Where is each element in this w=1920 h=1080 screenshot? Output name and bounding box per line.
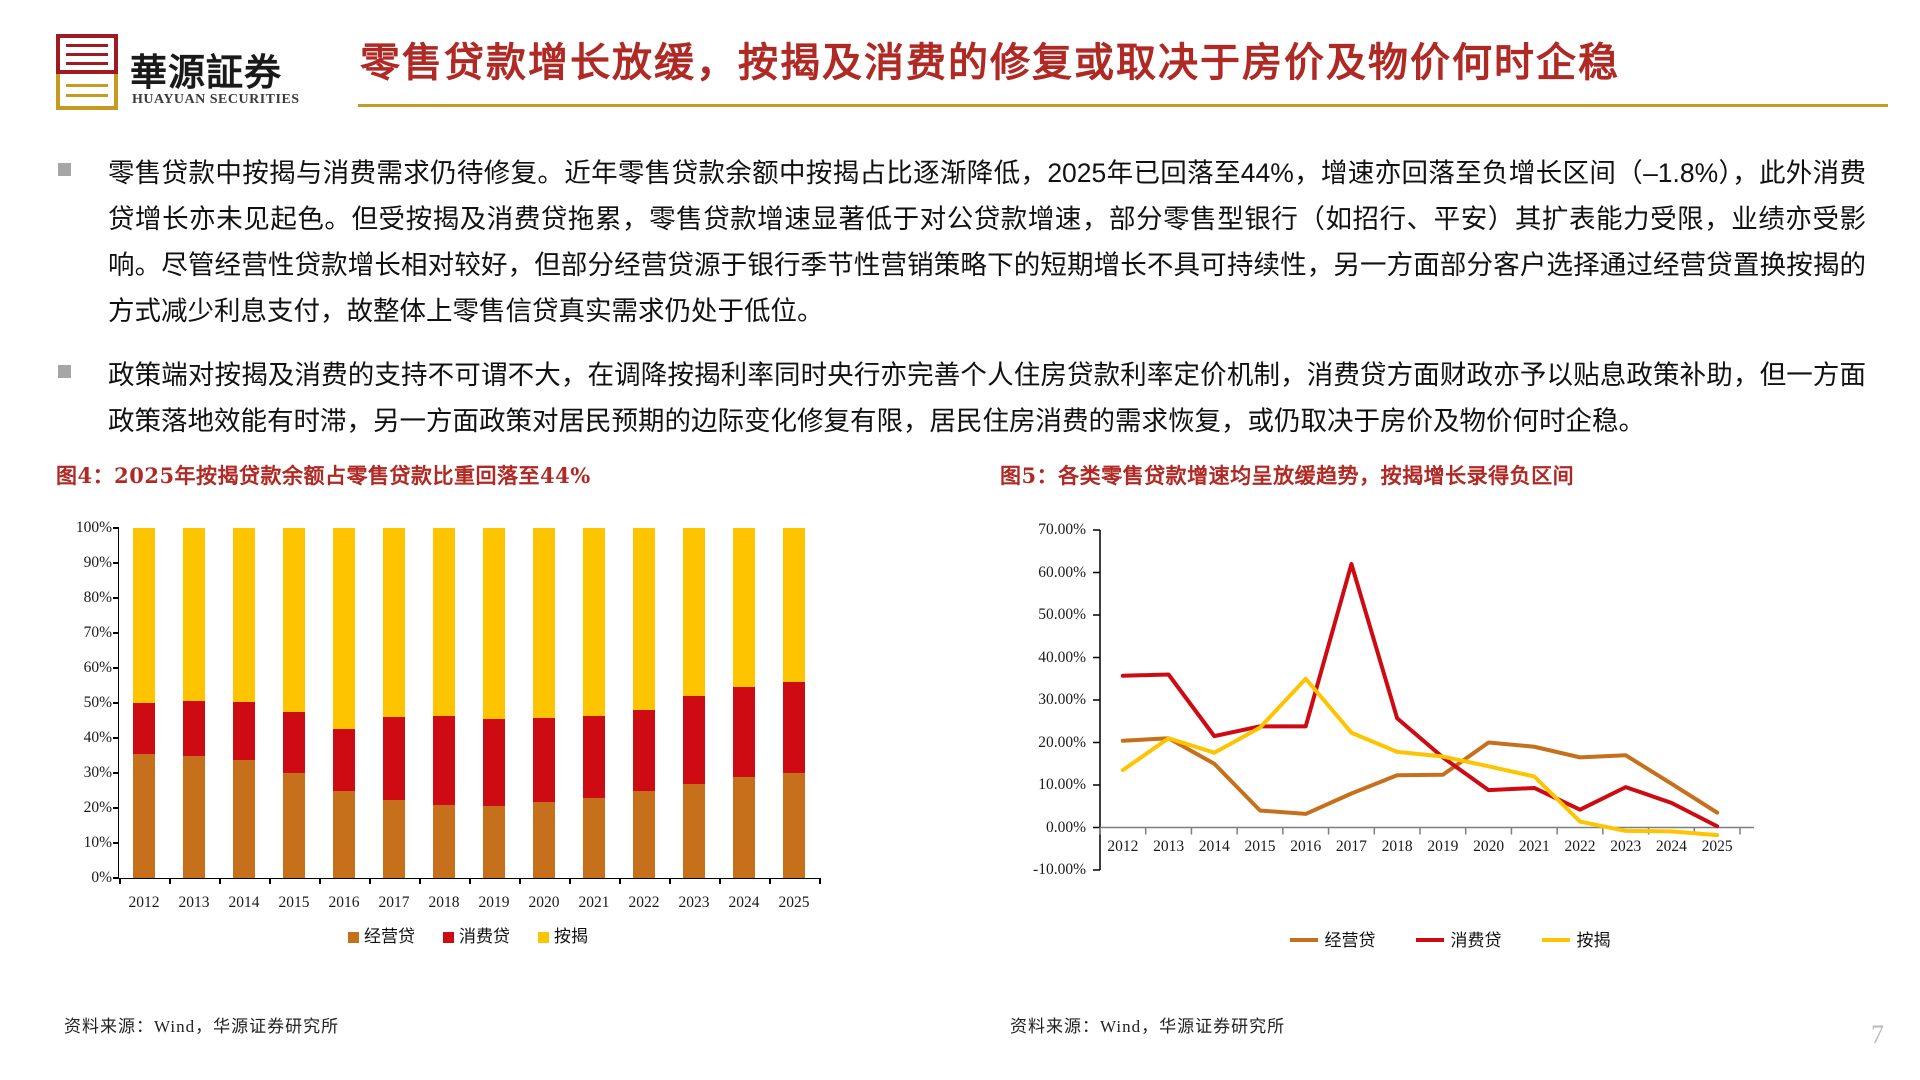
bar-segment-经营贷 bbox=[583, 798, 605, 879]
x-axis-label: 2014 bbox=[229, 894, 260, 912]
bar-column bbox=[733, 528, 755, 878]
x-axis-label: 2022 bbox=[1565, 838, 1596, 856]
bar-segment-经营贷 bbox=[633, 791, 655, 878]
bar-segment-经营贷 bbox=[533, 802, 555, 878]
x-axis-label: 2013 bbox=[1153, 838, 1184, 856]
y-axis-label: 60% bbox=[84, 659, 112, 677]
y-axis-label: 30% bbox=[84, 764, 112, 782]
x-axis-tick bbox=[469, 878, 471, 884]
y-axis-tick bbox=[113, 807, 119, 809]
bar-segment-经营贷 bbox=[433, 805, 455, 879]
bar-column bbox=[433, 528, 455, 878]
bar-segment-按揭 bbox=[133, 528, 155, 703]
x-axis-tick bbox=[219, 878, 221, 884]
x-axis-label: 2017 bbox=[1336, 838, 1367, 856]
y-axis-tick bbox=[113, 772, 119, 774]
bullet-item: 政策端对按揭及消费的支持不可谓不大，在调降按揭利率同时央行亦完善个人住房贷款利率… bbox=[56, 352, 1866, 444]
bullet-square-icon bbox=[58, 163, 71, 176]
bar-column bbox=[683, 528, 705, 878]
figure-4-panel: 图4：2025年按揭贷款余额占零售贷款比重回落至44% 0%10%20%30%4… bbox=[56, 460, 926, 516]
x-axis-tick bbox=[719, 878, 721, 884]
line-series-经营贷 bbox=[1123, 738, 1717, 814]
x-axis-label: 2016 bbox=[1290, 838, 1321, 856]
brand-logo: 華源証券 HUAYUAN SECURITIES bbox=[56, 34, 346, 114]
bar-segment-经营贷 bbox=[733, 777, 755, 879]
legend-item-消费贷: 消费贷 bbox=[443, 922, 510, 947]
bar-segment-按揭 bbox=[283, 528, 305, 712]
bar-segment-消费贷 bbox=[383, 717, 405, 800]
bar-column bbox=[583, 528, 605, 878]
y-axis-label: 70.00% bbox=[1000, 521, 1086, 539]
x-axis-label: 2014 bbox=[1199, 838, 1230, 856]
legend-label: 经营贷 bbox=[364, 927, 415, 946]
bar-segment-经营贷 bbox=[683, 784, 705, 879]
bar-segment-消费贷 bbox=[583, 716, 605, 797]
bar-segment-消费贷 bbox=[483, 719, 505, 806]
y-axis-label: 50.00% bbox=[1000, 606, 1086, 624]
x-axis-label: 2021 bbox=[1519, 838, 1550, 856]
y-axis-tick bbox=[113, 597, 119, 599]
y-axis-label: 20% bbox=[84, 799, 112, 817]
y-axis-label: 0% bbox=[91, 869, 112, 887]
bar-segment-按揭 bbox=[333, 528, 355, 729]
x-axis-label: 2015 bbox=[1245, 838, 1276, 856]
y-axis-label: 0.00% bbox=[1000, 819, 1086, 837]
y-axis-label: 100% bbox=[76, 519, 112, 537]
bar-segment-消费贷 bbox=[633, 710, 655, 791]
legend-item-消费贷: 消费贷 bbox=[1416, 926, 1502, 951]
legend-label: 消费贷 bbox=[459, 927, 510, 946]
title-underline bbox=[358, 104, 1888, 107]
bar-segment-按揭 bbox=[533, 528, 555, 718]
x-axis-label: 2025 bbox=[1702, 838, 1733, 856]
bar-segment-按揭 bbox=[233, 528, 255, 702]
y-axis-tick bbox=[113, 702, 119, 704]
figure-4-title: 图4：2025年按揭贷款余额占零售贷款比重回落至44% bbox=[56, 460, 926, 490]
bar-column bbox=[783, 528, 805, 878]
x-axis-label: 2024 bbox=[729, 894, 760, 912]
y-axis-label: 50% bbox=[84, 694, 112, 712]
bar-column bbox=[233, 528, 255, 878]
y-axis-label: 70% bbox=[84, 624, 112, 642]
bar-segment-消费贷 bbox=[233, 702, 255, 760]
bar-segment-消费贷 bbox=[783, 682, 805, 773]
line-series-消费贷 bbox=[1123, 564, 1717, 826]
x-axis-label: 2012 bbox=[129, 894, 160, 912]
bar-segment-经营贷 bbox=[133, 754, 155, 878]
bar-column bbox=[283, 528, 305, 878]
y-axis-label: 20.00% bbox=[1000, 734, 1086, 752]
x-axis-label: 2023 bbox=[679, 894, 710, 912]
y-axis-tick bbox=[113, 527, 119, 529]
x-axis-label: 2020 bbox=[529, 894, 560, 912]
bar-segment-经营贷 bbox=[783, 773, 805, 878]
chart-legend: 经营贷消费贷按揭 bbox=[118, 922, 818, 947]
bar-segment-消费贷 bbox=[133, 703, 155, 754]
page-number: 7 bbox=[1871, 1020, 1884, 1050]
bar-column bbox=[183, 528, 205, 878]
bar-column bbox=[633, 528, 655, 878]
figure-5-source: 资料来源：Wind，华源证券研究所 bbox=[1010, 1012, 1285, 1037]
bar-segment-按揭 bbox=[433, 528, 455, 716]
y-axis-label: -10.00% bbox=[1000, 861, 1086, 879]
y-axis-label: 40.00% bbox=[1000, 649, 1086, 667]
x-axis-label: 2015 bbox=[279, 894, 310, 912]
legend-item-按揭: 按揭 bbox=[1542, 926, 1611, 951]
x-axis-label: 2012 bbox=[1107, 838, 1138, 856]
x-axis-tick bbox=[119, 878, 121, 884]
bar-segment-消费贷 bbox=[333, 729, 355, 791]
x-axis-tick bbox=[519, 878, 521, 884]
x-axis-tick bbox=[669, 878, 671, 884]
x-axis-tick bbox=[769, 878, 771, 884]
x-axis-tick bbox=[169, 878, 171, 884]
x-axis-label: 2019 bbox=[479, 894, 510, 912]
page-title: 零售贷款增长放缓，按揭及消费的修复或取决于房价及物价何时企稳 bbox=[360, 30, 1890, 88]
bullet-text: 零售贷款中按揭与消费需求仍待修复。近年零售贷款余额中按揭占比逐渐降低，2025年… bbox=[108, 150, 1866, 334]
x-axis-tick bbox=[369, 878, 371, 884]
y-axis-label: 30.00% bbox=[1000, 691, 1086, 709]
x-axis-label: 2025 bbox=[779, 894, 810, 912]
legend-line-icon bbox=[1290, 938, 1318, 942]
y-axis-label: 10% bbox=[84, 834, 112, 852]
bar-segment-消费贷 bbox=[533, 718, 555, 802]
bar-column bbox=[383, 528, 405, 878]
legend-swatch-icon bbox=[538, 932, 549, 943]
x-axis-label: 2021 bbox=[579, 894, 610, 912]
x-axis-label: 2017 bbox=[379, 894, 410, 912]
legend-label: 按揭 bbox=[1577, 931, 1611, 950]
bar-segment-消费贷 bbox=[283, 712, 305, 773]
bar-column bbox=[333, 528, 355, 878]
figure-5-line-chart: 经营贷消费贷按揭 -10.00%0.00%10.00%20.00%30.00%4… bbox=[1000, 518, 1860, 918]
brand-name-en: HUAYUAN SECURITIES bbox=[132, 92, 300, 108]
x-axis-label: 2013 bbox=[179, 894, 210, 912]
legend-label: 消费贷 bbox=[1451, 931, 1502, 950]
bar-segment-按揭 bbox=[583, 528, 605, 716]
x-axis-tick bbox=[819, 878, 821, 884]
bullet-square-icon bbox=[58, 365, 71, 378]
figure-5-title: 图5：各类零售贷款增速均呈放缓趋势，按揭增长录得负区间 bbox=[1000, 460, 1880, 490]
y-axis-label: 60.00% bbox=[1000, 564, 1086, 582]
legend-label: 按揭 bbox=[554, 927, 588, 946]
x-axis-tick bbox=[569, 878, 571, 884]
huayuan-logo-icon bbox=[56, 34, 118, 110]
x-axis-tick bbox=[319, 878, 321, 884]
bar-column bbox=[483, 528, 505, 878]
bar-segment-经营贷 bbox=[383, 800, 405, 878]
legend-item-按揭: 按揭 bbox=[538, 922, 588, 947]
bar-segment-经营贷 bbox=[183, 756, 205, 878]
figure-5-panel: 图5：各类零售贷款增速均呈放缓趋势，按揭增长录得负区间 经营贷消费贷按揭 -10… bbox=[1000, 460, 1880, 516]
x-axis-tick bbox=[269, 878, 271, 884]
bar-segment-经营贷 bbox=[333, 791, 355, 878]
y-axis-label: 90% bbox=[84, 554, 112, 572]
x-axis-label: 2018 bbox=[429, 894, 460, 912]
bar-segment-消费贷 bbox=[733, 687, 755, 776]
legend-line-icon bbox=[1416, 938, 1444, 942]
legend-swatch-icon bbox=[348, 932, 359, 943]
x-axis-label: 2024 bbox=[1656, 838, 1687, 856]
x-axis-label: 2022 bbox=[629, 894, 660, 912]
x-axis-label: 2016 bbox=[329, 894, 360, 912]
page-header: 華源証券 HUAYUAN SECURITIES 零售贷款增长放缓，按揭及消费的修… bbox=[0, 0, 1920, 118]
bar-segment-按揭 bbox=[633, 528, 655, 710]
chart-plot-area: 0%10%20%30%40%50%60%70%80%90%100%2012201… bbox=[118, 528, 819, 879]
y-axis-tick bbox=[113, 842, 119, 844]
x-axis-label: 2023 bbox=[1610, 838, 1641, 856]
y-axis-tick bbox=[113, 632, 119, 634]
x-axis-label: 2018 bbox=[1382, 838, 1413, 856]
body-content: 零售贷款中按揭与消费需求仍待修复。近年零售贷款余额中按揭占比逐渐降低，2025年… bbox=[56, 150, 1866, 462]
bar-segment-消费贷 bbox=[183, 701, 205, 757]
legend-item-经营贷: 经营贷 bbox=[348, 922, 415, 947]
legend-line-icon bbox=[1542, 938, 1570, 942]
chart-plot-area bbox=[1000, 518, 1860, 918]
y-axis-label: 40% bbox=[84, 729, 112, 747]
figure-4-source: 资料来源：Wind，华源证券研究所 bbox=[64, 1012, 339, 1037]
y-axis-label: 80% bbox=[84, 589, 112, 607]
y-axis-tick bbox=[113, 737, 119, 739]
legend-label: 经营贷 bbox=[1325, 931, 1376, 950]
y-axis-tick bbox=[113, 667, 119, 669]
chart-legend: 经营贷消费贷按揭 bbox=[1100, 926, 1800, 951]
figure-4-stacked-bar-chart: 0%10%20%30%40%50%60%70%80%90%100%2012201… bbox=[56, 518, 856, 918]
bar-segment-消费贷 bbox=[433, 716, 455, 805]
x-axis-tick bbox=[419, 878, 421, 884]
bar-segment-按揭 bbox=[483, 528, 505, 719]
x-axis-tick bbox=[619, 878, 621, 884]
bullet-text: 政策端对按揭及消费的支持不可谓不大，在调降按揭利率同时央行亦完善个人住房贷款利率… bbox=[108, 352, 1866, 444]
bar-segment-经营贷 bbox=[483, 806, 505, 878]
bar-segment-按揭 bbox=[383, 528, 405, 717]
x-axis-label: 2019 bbox=[1427, 838, 1458, 856]
bar-segment-按揭 bbox=[733, 528, 755, 687]
bar-segment-消费贷 bbox=[683, 696, 705, 784]
bar-segment-按揭 bbox=[783, 528, 805, 682]
y-axis-tick bbox=[113, 562, 119, 564]
brand-name-cn: 華源証券 bbox=[130, 42, 282, 96]
legend-item-经营贷: 经营贷 bbox=[1290, 926, 1376, 951]
x-axis-label: 2020 bbox=[1473, 838, 1504, 856]
bullet-item: 零售贷款中按揭与消费需求仍待修复。近年零售贷款余额中按揭占比逐渐降低，2025年… bbox=[56, 150, 1866, 334]
bar-segment-经营贷 bbox=[233, 760, 255, 878]
legend-swatch-icon bbox=[443, 932, 454, 943]
bar-segment-按揭 bbox=[183, 528, 205, 701]
bar-segment-经营贷 bbox=[283, 773, 305, 878]
bar-column bbox=[533, 528, 555, 878]
bar-segment-按揭 bbox=[683, 528, 705, 696]
y-axis-label: 10.00% bbox=[1000, 776, 1086, 794]
bar-column bbox=[133, 528, 155, 878]
